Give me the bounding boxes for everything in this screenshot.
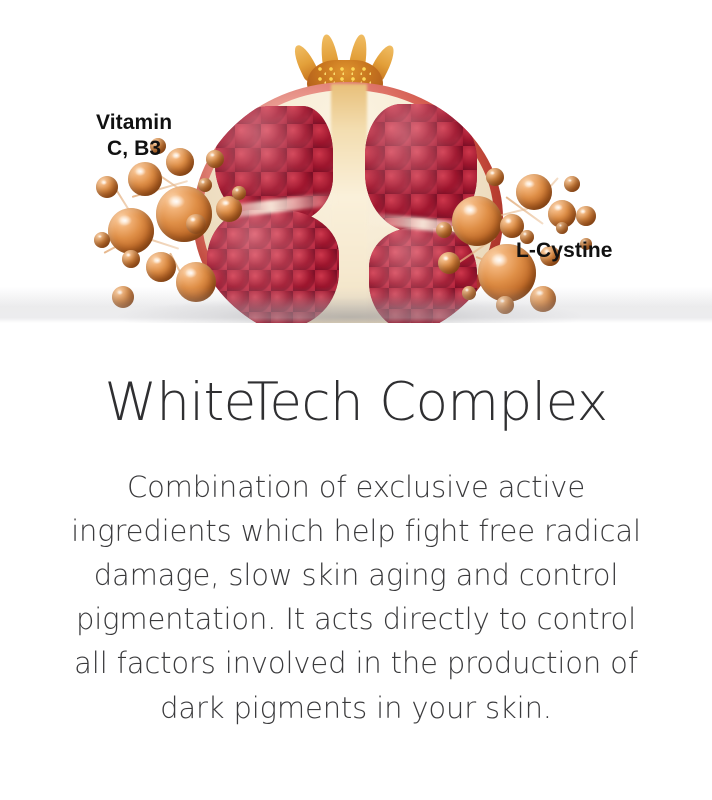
molecule-sphere <box>576 206 596 226</box>
molecule-bond <box>132 180 188 198</box>
molecule-bond <box>111 182 134 217</box>
product-ingredient-card: Vitamin C, B3 L-Cystine WhiteTech Comple… <box>0 0 712 800</box>
molecule-bond <box>505 196 543 225</box>
surface-shadow <box>0 287 712 323</box>
molecule-sphere <box>94 232 110 248</box>
product-description: Combination of exclusive active ingredie… <box>56 431 656 729</box>
molecule-bond <box>104 227 153 254</box>
molecule-sphere <box>146 252 176 282</box>
molecule-sphere <box>548 200 576 228</box>
molecule-bond <box>529 177 559 210</box>
callout-label-vitamin: Vitamin C, B3 <box>96 110 172 162</box>
molecule-sphere <box>122 250 140 268</box>
page-title: WhiteTech Complex <box>0 323 712 431</box>
molecule-bond <box>118 228 179 250</box>
molecule-bond <box>149 168 190 196</box>
molecule-sphere <box>108 208 154 254</box>
callout-label-cystine: L-Cystine <box>516 238 613 264</box>
molecule-sphere <box>556 222 568 234</box>
molecule-sphere <box>128 162 162 196</box>
molecule-sphere <box>96 176 118 198</box>
molecule-sphere <box>564 176 580 192</box>
molecule-sphere <box>500 214 524 238</box>
hero-image-region: Vitamin C, B3 L-Cystine <box>0 0 712 323</box>
molecule-sphere <box>516 174 552 210</box>
content-block: WhiteTech Complex Combination of exclusi… <box>0 323 712 730</box>
